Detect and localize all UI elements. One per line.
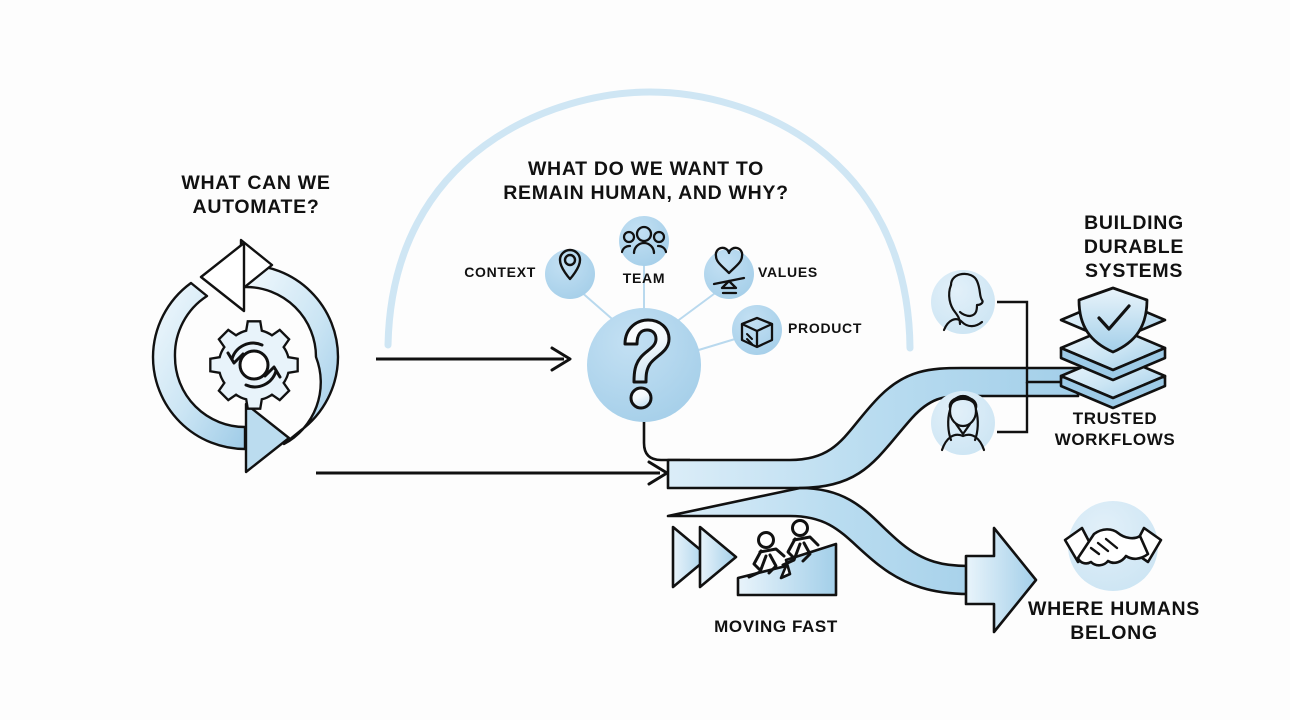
forking-flow-ribbon — [668, 368, 1078, 632]
outcome-label-where-humans-belong: WHERE HUMANS BELONG — [1008, 598, 1220, 646]
outcome-label-moving-fast: MOVING FAST — [676, 617, 876, 638]
node-label-context: CONTEXT — [380, 264, 536, 281]
arrow-right-to-fork — [316, 462, 667, 484]
package-box-icon — [732, 305, 782, 355]
person-profile-female-icon — [931, 391, 995, 455]
outcome-label-trusted-workflows: TRUSTED WORKFLOWS — [1022, 409, 1208, 450]
fast-forward-double-triangle-icon — [673, 527, 736, 587]
handshake-icon — [1065, 501, 1161, 591]
people-group-icon — [619, 216, 669, 266]
heart-balance-scale-icon — [704, 248, 754, 299]
question-mark-icon — [587, 308, 701, 422]
node-label-team: TEAM — [596, 270, 692, 287]
node-label-product: PRODUCT — [788, 320, 918, 337]
heading-remain-human: WHAT DO WE WANT TO REMAIN HUMAN, AND WHY… — [446, 158, 846, 206]
shield-check-stack-icon — [1061, 288, 1165, 408]
person-profile-male-icon — [931, 270, 995, 334]
heading-building-durable-systems: BUILDING DURABLE SYSTEMS — [1044, 212, 1224, 283]
node-label-values: VALUES — [758, 264, 878, 281]
circular-arrows-cycle-icon — [153, 240, 338, 472]
diagram-canvas: WHAT CAN WE AUTOMATE? WHAT DO WE WANT TO… — [0, 0, 1290, 720]
location-pin-icon — [545, 249, 595, 299]
heading-what-can-we-automate: WHAT CAN WE AUTOMATE? — [128, 172, 384, 220]
runners-on-broken-stairs-icon — [738, 521, 836, 596]
gear-refresh-icon — [210, 321, 297, 408]
arrow-right-to-center — [376, 348, 570, 370]
